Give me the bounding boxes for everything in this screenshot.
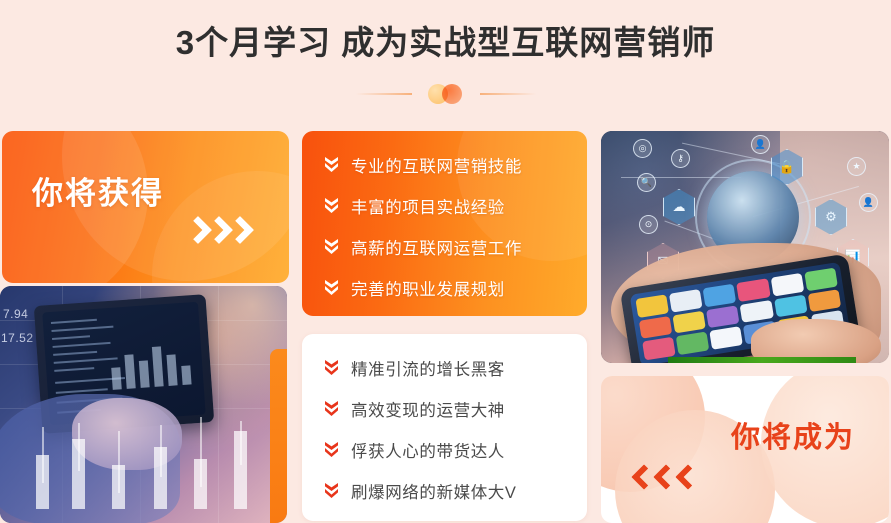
chevron-right-arrows xyxy=(186,217,247,245)
chevron-left-icon xyxy=(631,464,650,492)
key-icon: ⚷ xyxy=(671,149,690,168)
page-title: 3个月学习 成为实战型互联网营销师 xyxy=(0,16,891,64)
you-will-get-heading: 你将获得 xyxy=(32,168,164,213)
price-label: 7.94 xyxy=(3,307,28,321)
chevron-down-bullet-icon xyxy=(324,239,339,255)
list-item[interactable]: 高薪的互联网运营工作 xyxy=(324,235,577,259)
user-icon: 👤 xyxy=(859,193,878,212)
chevron-down-bullet-icon xyxy=(324,401,339,417)
user-icon: 👤 xyxy=(751,135,770,154)
benefits-orange-card: 专业的互联网营销技能 丰富的项目实战经验 高薪的互联网运营工作 完善的职业发展规… xyxy=(302,131,587,316)
green-accent-bar xyxy=(668,357,856,363)
list-item-label: 俘获人心的带货达人 xyxy=(351,438,505,462)
header: 3个月学习 成为实战型互联网营销师 xyxy=(0,0,891,118)
app-icon xyxy=(635,294,669,317)
chevron-right-icon xyxy=(207,217,226,245)
list-item[interactable]: 高效变现的运营大神 xyxy=(324,397,577,421)
list-item[interactable]: 刷爆网络的新媒体大V xyxy=(324,479,577,503)
app-icon xyxy=(706,305,740,328)
divider-line-left xyxy=(356,93,412,95)
star-icon: ★ xyxy=(847,157,866,176)
chevron-down-bullet-icon xyxy=(324,198,339,214)
list-item-label: 完善的职业发展规划 xyxy=(351,276,505,300)
app-icon xyxy=(673,310,707,333)
list-item[interactable]: 完善的职业发展规划 xyxy=(324,276,577,300)
chevron-down-bullet-icon xyxy=(324,442,339,458)
app-icon xyxy=(737,278,771,301)
list-item-label: 刷爆网络的新媒体大V xyxy=(351,479,517,503)
divider-line-right xyxy=(480,93,536,95)
you-will-become-card[interactable]: 你将成为 xyxy=(601,376,889,523)
app-icon xyxy=(669,289,703,312)
chevron-down-bullet-icon xyxy=(324,280,339,296)
list-item-label: 丰富的项目实战经验 xyxy=(351,194,505,218)
target-icon: ◎ xyxy=(633,139,652,158)
list-item[interactable]: 专业的互联网营销技能 xyxy=(324,153,577,177)
search-icon: 🔍 xyxy=(637,173,656,192)
list-item[interactable]: 俘获人心的带货达人 xyxy=(324,438,577,462)
outcomes-white-list: 精准引流的增长黑客 高效变现的运营大神 俘获人心的带货达人 刷爆网络的新媒体大V xyxy=(324,356,577,503)
chevron-down-bullet-icon xyxy=(324,483,339,499)
chevron-left-icon xyxy=(675,464,694,492)
list-item-label: 精准引流的增长黑客 xyxy=(351,356,505,380)
chevron-right-icon xyxy=(228,217,247,245)
app-icon xyxy=(639,316,673,339)
app-icon xyxy=(710,326,744,349)
app-icon xyxy=(770,273,804,296)
app-icon xyxy=(774,294,808,317)
orange-accent-strip xyxy=(270,349,287,523)
settings-dot-icon: ⊙ xyxy=(639,215,658,234)
finance-trading-photo: 7.94 17.52 xyxy=(0,286,287,523)
you-will-become-heading: 你将成为 xyxy=(731,414,855,456)
promo-banner: 3个月学习 成为实战型互联网营销师 你将获得 专业的互联网营销技能 xyxy=(0,0,891,523)
list-item-label: 高薪的互联网运营工作 xyxy=(351,235,522,259)
decorative-divider xyxy=(356,82,536,106)
app-icon xyxy=(740,300,774,323)
candlestick-chart xyxy=(0,373,287,523)
list-item[interactable]: 精准引流的增长黑客 xyxy=(324,356,577,380)
app-icon xyxy=(804,268,838,291)
list-item-label: 专业的互联网营销技能 xyxy=(351,153,522,177)
app-icon xyxy=(808,289,842,312)
list-item-label: 高效变现的运营大神 xyxy=(351,397,505,421)
you-will-get-card[interactable]: 你将获得 xyxy=(2,131,289,283)
chevron-right-icon xyxy=(186,217,205,245)
divider-dot-orange xyxy=(442,84,462,104)
price-label: 17.52 xyxy=(1,331,34,345)
app-icon xyxy=(676,332,710,355)
chevron-down-bullet-icon xyxy=(324,157,339,173)
benefits-orange-list: 专业的互联网营销技能 丰富的项目实战经验 高薪的互联网运营工作 完善的职业发展规… xyxy=(324,153,577,300)
chevron-left-icon xyxy=(653,464,672,492)
smartphone-tech-photo: 🔒 ⚙ ☁ ✉ 📊 ◎ ⚷ 🔍 ⊙ ★ 👤 👤 xyxy=(601,131,889,363)
app-icon xyxy=(703,284,737,307)
outcomes-white-card: 精准引流的增长黑客 高效变现的运营大神 俘获人心的带货达人 刷爆网络的新媒体大V xyxy=(302,334,587,521)
chevron-left-arrows xyxy=(631,464,694,492)
chevron-down-bullet-icon xyxy=(324,360,339,376)
list-item[interactable]: 丰富的项目实战经验 xyxy=(324,194,577,218)
